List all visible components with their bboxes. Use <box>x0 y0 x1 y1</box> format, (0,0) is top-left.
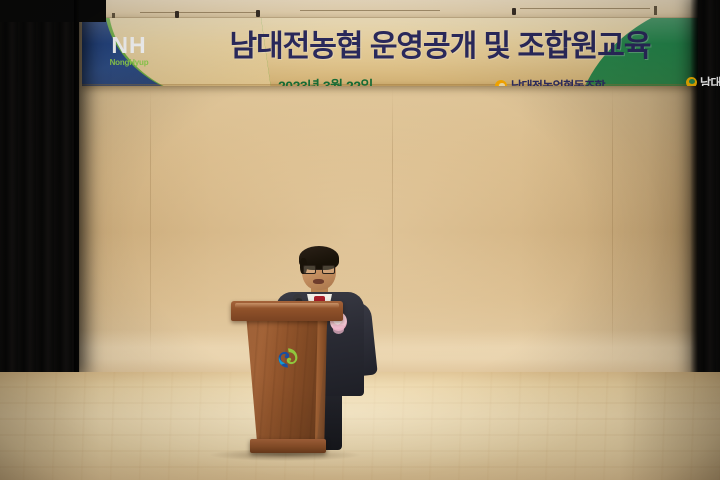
nh-logo-mark: NH <box>92 34 166 57</box>
curtain-left-edge-shadow <box>74 0 80 374</box>
stage-curtain-left-top <box>0 0 106 22</box>
event-banner: NH NongHyup 남대전농협 운영공개 및 조합원교육 2023년 3월 … <box>82 18 720 86</box>
wooden-podium <box>231 301 343 457</box>
banner-organization-name: 남대전농업협동조합 <box>511 77 605 86</box>
podium-desktop-sheen <box>235 303 339 308</box>
banner-hook <box>654 6 657 15</box>
banner-title: 남대전농협 운영공개 및 조합원교육 <box>190 32 690 62</box>
stage-curtain-right <box>698 0 720 378</box>
rigging-wire <box>300 10 440 11</box>
curtain-right-edge-shadow <box>690 0 698 378</box>
glasses-lens-right <box>322 265 335 274</box>
speaker-glasses <box>303 265 335 274</box>
nonghyup-emblem-icon <box>686 77 697 86</box>
banner-clip <box>256 10 260 17</box>
speaker-mouth <box>313 279 324 284</box>
rigging-wire <box>520 8 650 9</box>
banner-clip <box>175 11 179 18</box>
banner-bottom-edge <box>82 84 720 87</box>
banner-clip <box>512 8 516 15</box>
rigging-wire <box>140 12 260 13</box>
stage-curtain-left <box>0 0 79 374</box>
banner-organization-right: 남대전농업협동조합 <box>686 74 720 86</box>
podium-base <box>250 439 326 453</box>
nh-logo-subtitle: NongHyup <box>92 59 166 67</box>
nh-logo: NH NongHyup <box>92 34 166 67</box>
nonghyup-emblem-icon <box>495 80 507 87</box>
banner-organization-right-name: 남대전농업협동조합 <box>700 74 720 86</box>
korean-government-emblem-icon <box>277 347 299 369</box>
stage-photograph: NH NongHyup 남대전농협 운영공개 및 조합원교육 2023년 3월 … <box>0 0 720 480</box>
glasses-lens-left <box>303 265 316 274</box>
banner-date: 2023년 3월 22일 <box>278 76 373 86</box>
podium-desktop <box>231 301 343 321</box>
banner-organization: 남대전농업협동조합 <box>495 77 605 86</box>
